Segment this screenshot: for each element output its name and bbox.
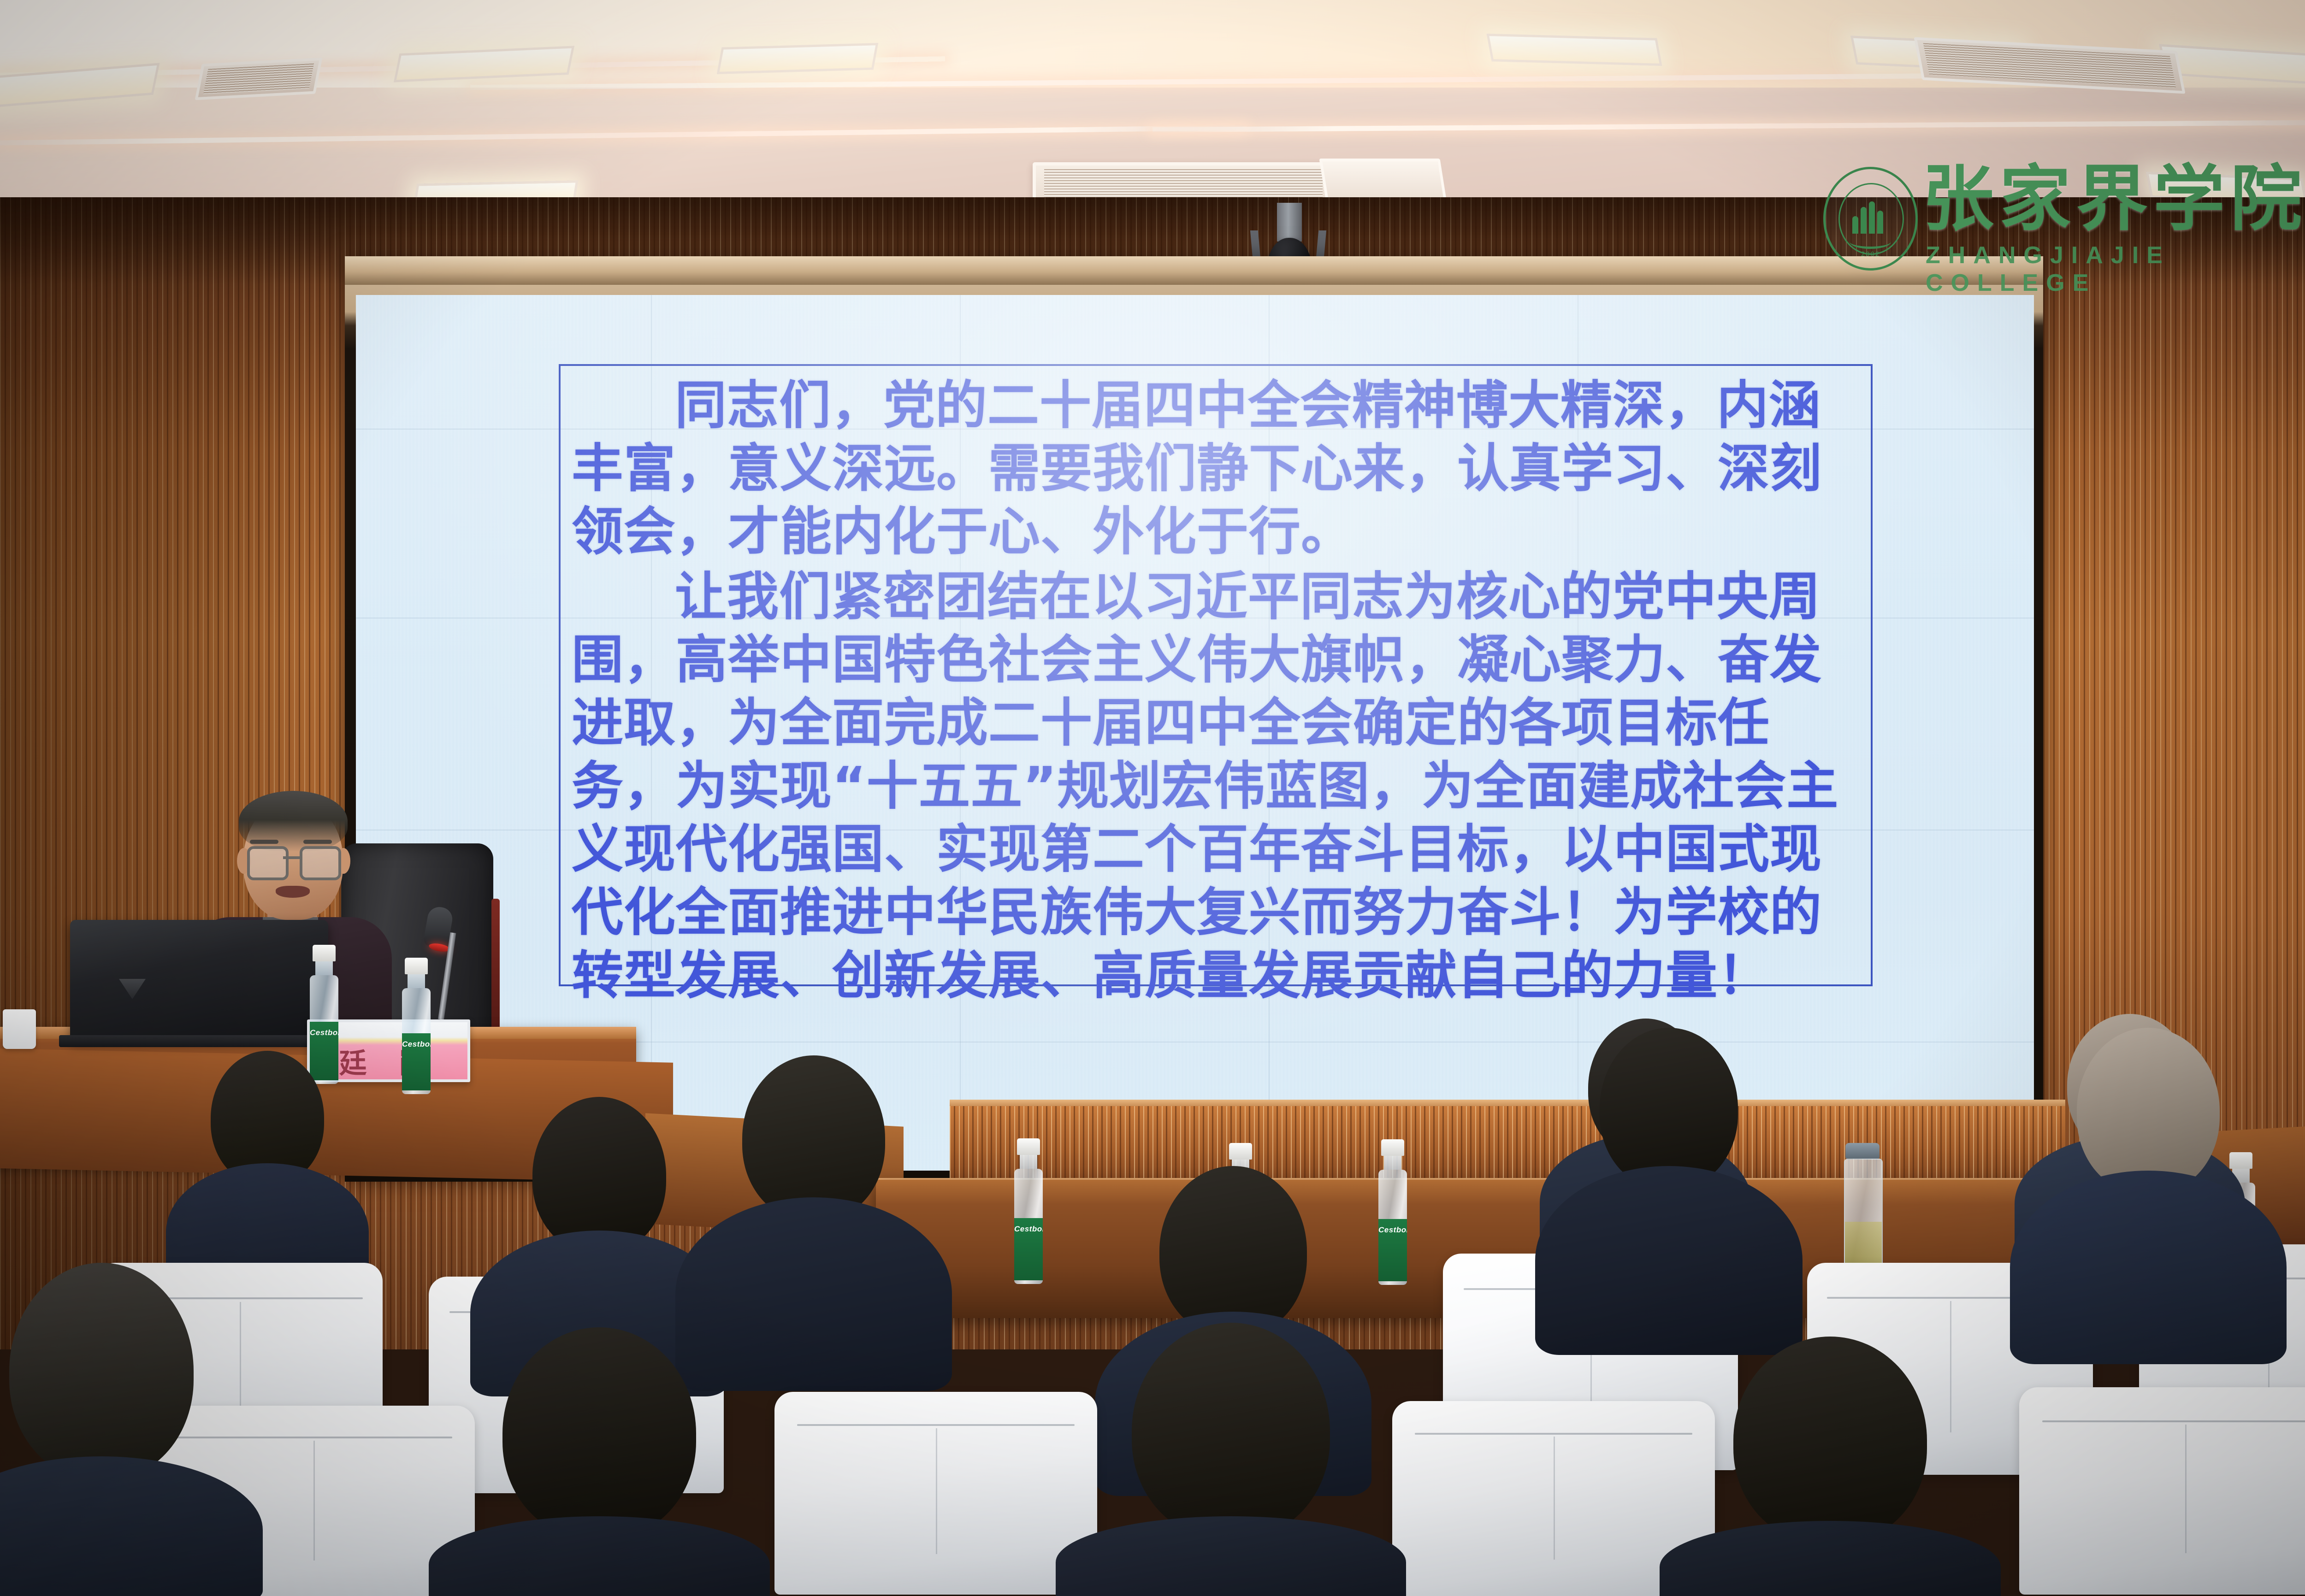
audience-member xyxy=(0,1263,230,1596)
tea-tumbler[interactable] xyxy=(1844,1143,1881,1276)
audience-head xyxy=(742,1055,885,1221)
bottle-brand: Cestbon xyxy=(310,1028,338,1037)
projection-screen-trim xyxy=(345,256,2043,285)
laptop[interactable] xyxy=(70,920,328,1041)
institution-logo: 2002 张家界学院 ZHANGJIAJIE COLLEGE xyxy=(1823,162,2305,268)
bottle-cap xyxy=(1017,1138,1040,1155)
audience-head xyxy=(532,1097,666,1254)
bottle-brand: Cestbon xyxy=(1378,1225,1407,1235)
audience-head xyxy=(1600,1028,1738,1189)
audience-shoulders xyxy=(1660,1521,2001,1596)
bottle-body: Cestbon xyxy=(1378,1170,1407,1285)
audience-member xyxy=(1563,1028,1775,1350)
water-bottle[interactable]: Cestbon xyxy=(402,958,431,1094)
bottle-cap xyxy=(1381,1139,1404,1156)
audience-member xyxy=(1097,1323,1365,1596)
bottle-label: Cestbon xyxy=(402,1033,431,1090)
ceiling-led-panel xyxy=(717,43,879,74)
ceiling-projector-mount xyxy=(1277,203,1302,241)
audience-head xyxy=(1159,1166,1307,1337)
slide-paragraph-2: 让我们紧密团结在以习近平同志为核心的党中央周围，高举中国特色社会主义伟大旗帜，凝… xyxy=(572,565,1862,1007)
audience-chair xyxy=(2019,1387,2305,1595)
water-bottle[interactable]: Cestbon xyxy=(1014,1138,1043,1284)
ceiling-ac-vent xyxy=(195,58,323,100)
audience-member xyxy=(1696,1337,1964,1596)
slide-body-text: 同志们，党的二十届四中全会精神博大精深，内涵丰富，意义深远。需要我们静下心来，认… xyxy=(572,374,1862,1009)
seal-year: 2002 xyxy=(1826,250,1915,258)
audience-head xyxy=(1733,1337,1927,1544)
institution-name-cn: 张家界学院 xyxy=(1922,160,2305,236)
bottle-cap xyxy=(313,945,336,961)
institution-name-en: ZHANGJIAJIE COLLEGE xyxy=(1926,241,2305,297)
bottle-body: Cestbon xyxy=(1014,1169,1043,1284)
laptop-base xyxy=(59,1035,340,1047)
audience-chair xyxy=(774,1392,1097,1595)
audience-shoulders xyxy=(429,1516,770,1596)
bottle-neck xyxy=(408,974,425,988)
audience-head xyxy=(1132,1323,1330,1539)
water-bottle[interactable]: Cestbon xyxy=(1378,1139,1407,1285)
cup[interactable] xyxy=(3,1009,36,1049)
bottle-cap xyxy=(1229,1143,1252,1160)
table-front-panel xyxy=(950,1106,2065,1187)
bottle-label: Cestbon xyxy=(1378,1219,1407,1281)
audience-shoulders xyxy=(1056,1516,1406,1596)
audience-head xyxy=(2077,1028,2220,1194)
college-seal-icon: 2002 xyxy=(1823,167,1918,271)
bottle-neck xyxy=(1020,1155,1037,1169)
tumbler-body xyxy=(1844,1159,1883,1276)
mountain-peaks-icon xyxy=(1851,201,1889,234)
audience-member xyxy=(184,1051,350,1281)
eyeglasses-bridge xyxy=(283,856,300,859)
audience-shoulders xyxy=(0,1456,263,1596)
bottle-label: Cestbon xyxy=(1014,1218,1043,1280)
audience-head xyxy=(9,1263,194,1479)
conference-room-photo: 同志们，党的二十届四中全会精神博大精深，内涵丰富，意义深远。需要我们静下心来，认… xyxy=(0,0,2305,1596)
eyeglasses-icon xyxy=(247,846,289,880)
bottle-body: Cestbon xyxy=(402,988,431,1094)
audience-head xyxy=(502,1327,696,1539)
audience-member xyxy=(705,1055,922,1387)
audience-member xyxy=(466,1327,733,1596)
ceiling-led-panel xyxy=(1486,34,1662,66)
speaker-eyebrow xyxy=(303,840,332,844)
bottle-cap xyxy=(405,958,428,974)
slide-paragraph-1: 同志们，党的二十届四中全会精神博大精深，内涵丰富，意义深远。需要我们静下心来，认… xyxy=(572,374,1862,564)
speaker-eyebrow xyxy=(250,840,278,844)
bottle-brand: Cestbon xyxy=(402,1040,431,1049)
water-wave-icon xyxy=(1850,235,1891,249)
audience-shoulders xyxy=(1535,1166,1803,1355)
audience-member xyxy=(2038,1028,2259,1360)
bottle-neck xyxy=(1384,1156,1401,1170)
eyeglasses-icon xyxy=(300,846,341,880)
audience-shoulders xyxy=(2010,1171,2287,1364)
tumbler-cap xyxy=(1845,1143,1879,1159)
speaker-mouth xyxy=(276,886,310,898)
bottle-brand: Cestbon xyxy=(1014,1225,1043,1234)
bottle-neck xyxy=(315,961,333,975)
